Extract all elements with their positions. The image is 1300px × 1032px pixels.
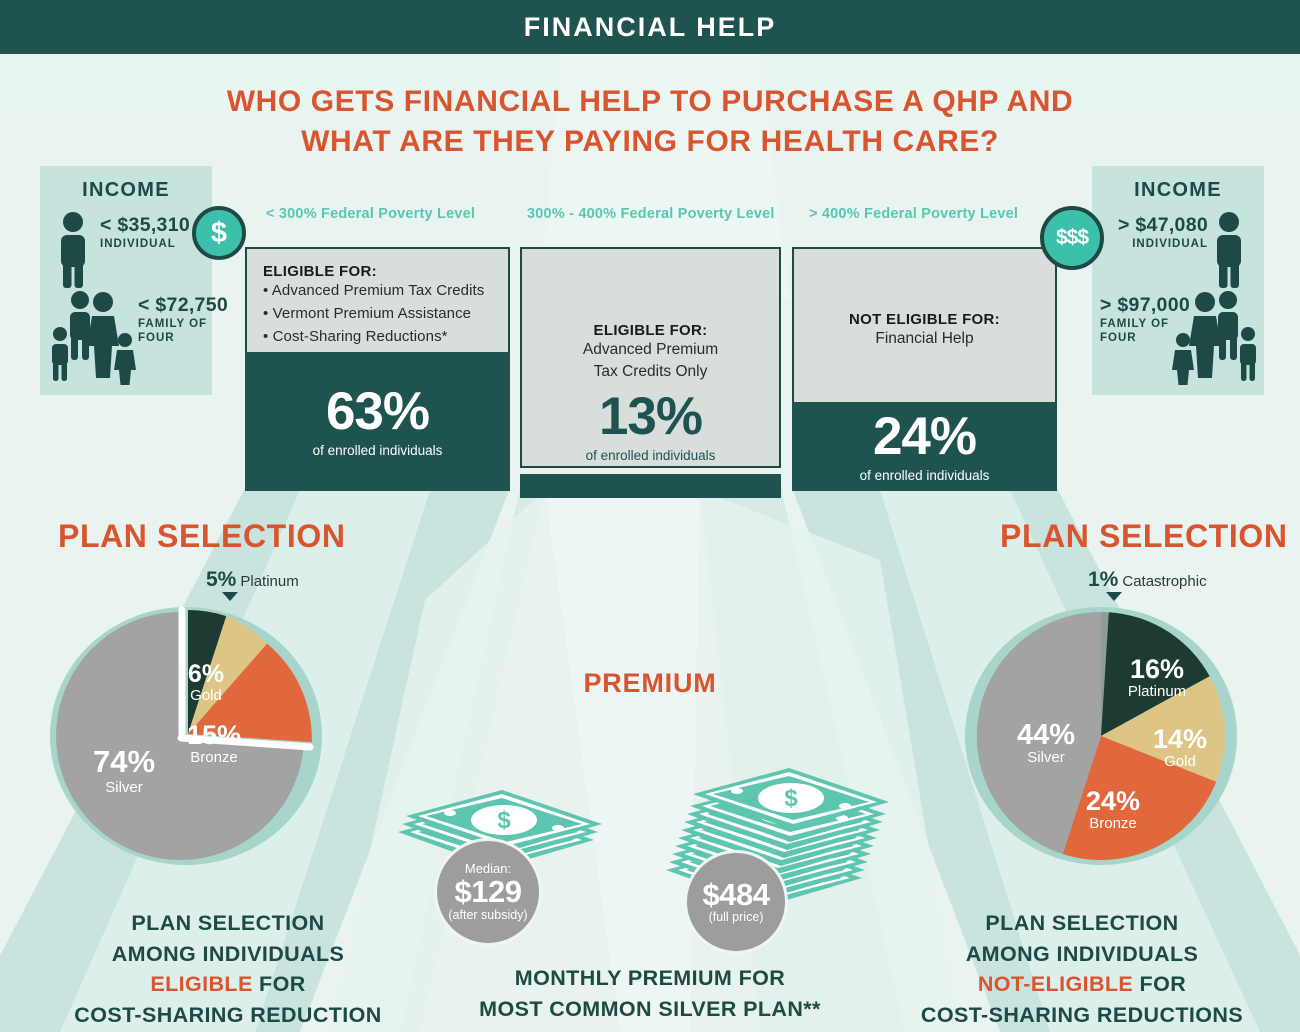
percent-value: 24% (873, 410, 976, 463)
percent-value: 63% (326, 385, 429, 438)
full-price-amount: $484 (703, 879, 770, 912)
svg-text:Gold: Gold (1164, 753, 1196, 770)
percent-value: 13% (538, 390, 763, 443)
income-right-individual-amount: > $47,080 (1100, 214, 1208, 237)
percent-box: 24% of enrolled individuals (792, 402, 1057, 491)
income-right-family-amount: > $97,000 (1100, 294, 1208, 317)
question-line-2: WHAT ARE THEY PAYING FOR HEALTH CARE? (0, 122, 1300, 162)
caption-line: ELIGIBLE FOR (28, 969, 428, 1000)
income-panel-left: INCOME < $35,310 INDIVIDUAL (40, 166, 212, 395)
percent-caption: of enrolled individuals (860, 468, 990, 483)
pie-callout-right: 1%Catastrophic (1088, 568, 1207, 592)
svg-text:14%: 14% (1153, 724, 1207, 754)
eligible-heading: ELIGIBLE FOR: (538, 322, 763, 339)
svg-text:Silver: Silver (1027, 749, 1065, 766)
svg-text:Platinum: Platinum (1128, 683, 1186, 700)
svg-text:Bronze: Bronze (1089, 815, 1137, 832)
plan-selection-title-left: PLAN SELECTION (58, 518, 346, 555)
income-left-title: INCOME (40, 179, 212, 202)
eligible-item: • Cost-Sharing Reductions* (263, 326, 492, 349)
dollar-sign-icon: $ (192, 206, 246, 260)
infographic-page: FINANCIAL HELP WHO GETS FINANCIAL HELP T… (0, 0, 1300, 1032)
percent-caption: of enrolled individuals (538, 448, 763, 463)
not-eligible-heading: NOT ELIGIBLE FOR: (810, 311, 1039, 328)
eligibility-column-300-400: ELIGIBLE FOR: Advanced Premium Tax Credi… (520, 247, 781, 498)
svg-text:24%: 24% (1086, 786, 1140, 816)
caption-line: MOST COMMON SILVER PLAN** (440, 994, 860, 1025)
arrow-down-icon (222, 592, 238, 601)
income-panel-right: INCOME > $47,080 INDIVIDUAL > $ (1092, 166, 1264, 395)
eligible-subtext: Tax Credits Only (538, 361, 763, 383)
svg-text:6%: 6% (188, 660, 224, 688)
arrow-down-icon (1106, 592, 1122, 601)
main-question: WHO GETS FINANCIAL HELP TO PURCHASE A QH… (0, 82, 1300, 162)
pie-chart-eligible: 15% Bronze 6% Gold 74% Silver (48, 602, 334, 870)
svg-text:Bronze: Bronze (190, 749, 238, 766)
full-price-premium-badge: $484 (full price) (684, 850, 788, 954)
svg-text:Silver: Silver (105, 779, 143, 796)
income-left-family-label: FAMILY OF FOUR (138, 317, 228, 346)
caption-line: PLAN SELECTION (28, 908, 428, 939)
income-left-family-amount: < $72,750 (138, 294, 228, 317)
triple-dollar-sign-icon: $$$ (1040, 206, 1104, 270)
caption-rest: FOR (1133, 972, 1186, 996)
income-right-individual-label: INDIVIDUAL (1100, 237, 1208, 251)
svg-text:Gold: Gold (190, 687, 222, 704)
percent-caption: of enrolled individuals (313, 443, 443, 458)
not-eligible-subtext: Financial Help (810, 328, 1039, 350)
callout-name: Catastrophic (1122, 573, 1206, 590)
caption-line: COST-SHARING REDUCTION (28, 1000, 428, 1031)
eligibility-box: ELIGIBLE FOR: Advanced Premium Tax Credi… (520, 247, 781, 468)
income-left-individual-amount: < $35,310 (100, 214, 190, 237)
callout-name: Platinum (240, 573, 298, 590)
fpl-label-300-400: 300% - 400% Federal Poverty Level (527, 206, 775, 222)
eligible-item: • Vermont Premium Assistance (263, 303, 492, 326)
eligible-subtext: Advanced Premium (538, 339, 763, 361)
pie-chart-not-eligible: 16% Platinum 14% Gold 24% Bronze 44% Sil… (958, 602, 1244, 870)
full-price-note: (full price) (709, 911, 764, 925)
header-bar: FINANCIAL HELP (0, 0, 1300, 54)
svg-text:16%: 16% (1130, 654, 1184, 684)
caption-line: COST-SHARING REDUCTIONS (872, 1000, 1292, 1031)
callout-percent: 1% (1088, 568, 1118, 591)
fpl-label-under-300: < 300% Federal Poverty Level (266, 206, 475, 222)
question-line-1: WHO GETS FINANCIAL HELP TO PURCHASE A QH… (0, 82, 1300, 122)
eligibility-column-over-400: NOT ELIGIBLE FOR: Financial Help 24% of … (792, 247, 1057, 491)
page-title: FINANCIAL HELP (524, 12, 777, 43)
percent-box: 63% of enrolled individuals (245, 352, 510, 491)
person-icon (52, 211, 94, 289)
pie-callout-left: 5%Platinum (206, 568, 299, 592)
eligible-heading: ELIGIBLE FOR: (263, 263, 492, 280)
caption-right: PLAN SELECTION AMONG INDIVIDUALS NOT-ELI… (872, 908, 1292, 1030)
median-amount: $129 (455, 876, 522, 909)
svg-text:44%: 44% (1017, 719, 1075, 751)
median-note: (after subsidy) (448, 909, 527, 923)
eligibility-column-under-300: ELIGIBLE FOR: • Advanced Premium Tax Cre… (245, 247, 510, 491)
plan-selection-title-right: PLAN SELECTION (1000, 518, 1288, 555)
family-icon (48, 288, 140, 386)
caption-line: MONTHLY PREMIUM FOR (440, 963, 860, 994)
eligibility-box: NOT ELIGIBLE FOR: Financial Help (792, 247, 1057, 402)
income-right-title: INCOME (1092, 179, 1264, 202)
fpl-label-over-400: > 400% Federal Poverty Level (809, 206, 1018, 222)
eligibility-list-box: ELIGIBLE FOR: • Advanced Premium Tax Cre… (245, 247, 510, 352)
caption-highlight: ELIGIBLE (150, 972, 252, 996)
caption-line: AMONG INDIVIDUALS (28, 939, 428, 970)
eligible-item: • Advanced Premium Tax Credits (263, 280, 492, 303)
percent-bar (520, 474, 781, 498)
caption-left: PLAN SELECTION AMONG INDIVIDUALS ELIGIBL… (28, 908, 428, 1030)
caption-center: MONTHLY PREMIUM FOR MOST COMMON SILVER P… (440, 963, 860, 1024)
svg-text:74%: 74% (93, 744, 155, 779)
caption-line: NOT-ELIGIBLE FOR (872, 969, 1292, 1000)
svg-text:15%: 15% (187, 720, 241, 750)
person-icon (1208, 211, 1250, 289)
callout-percent: 5% (206, 568, 236, 591)
income-left-individual-label: INDIVIDUAL (100, 237, 190, 251)
caption-rest: FOR (253, 972, 306, 996)
median-premium-badge: Median: $129 (after subsidy) (434, 838, 542, 946)
caption-line: AMONG INDIVIDUALS (872, 939, 1292, 970)
caption-line: PLAN SELECTION (872, 908, 1292, 939)
caption-highlight: NOT-ELIGIBLE (978, 972, 1133, 996)
income-right-family-label: FAMILY OF FOUR (1100, 317, 1208, 346)
